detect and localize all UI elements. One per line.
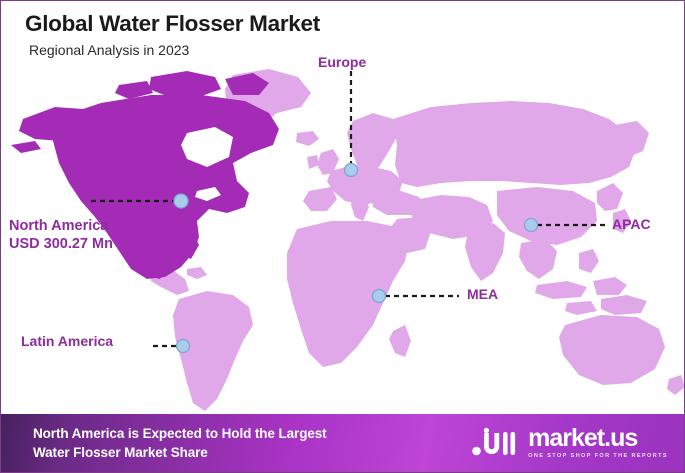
- footer-banner: North America is Expected to Hold the La…: [1, 414, 685, 472]
- callout-apac[interactable]: APAC: [612, 216, 651, 233]
- page-title: Global Water Flosser Market: [25, 11, 320, 37]
- callout-north-america-value: USD 300.27 Mn: [9, 236, 113, 254]
- callout-north-america[interactable]: North America USD 300.27 Mn: [9, 218, 113, 253]
- brand-tagline: ONE STOP SHOP FOR THE REPORTS: [528, 454, 668, 460]
- callout-north-america-label: North America: [9, 218, 113, 236]
- brand-logo[interactable]: market.us ONE STOP SHOP FOR THE REPORTS: [471, 426, 668, 460]
- market-us-logo-icon: [471, 426, 521, 460]
- infographic-card: Global Water Flosser Market Regional Ana…: [0, 0, 685, 473]
- page-subtitle: Regional Analysis in 2023: [29, 42, 320, 58]
- callout-mea-label: MEA: [467, 286, 498, 302]
- footer-headline-line1: North America is Expected to Hold the La…: [33, 424, 327, 443]
- footer-headline: North America is Expected to Hold the La…: [33, 424, 327, 462]
- callout-latin-america-label: Latin America: [21, 333, 113, 349]
- callout-latin-america[interactable]: Latin America: [21, 333, 113, 350]
- callout-europe[interactable]: Europe: [318, 54, 366, 71]
- header: Global Water Flosser Market Regional Ana…: [25, 11, 320, 58]
- brand-wordmark: market.us ONE STOP SHOP FOR THE REPORTS: [528, 426, 668, 460]
- brand-name: market.us: [528, 426, 668, 451]
- footer-headline-line2: Water Flosser Market Share: [33, 443, 327, 462]
- callout-europe-label: Europe: [318, 54, 366, 70]
- callout-mea[interactable]: MEA: [467, 286, 498, 303]
- callout-apac-label: APAC: [612, 216, 651, 232]
